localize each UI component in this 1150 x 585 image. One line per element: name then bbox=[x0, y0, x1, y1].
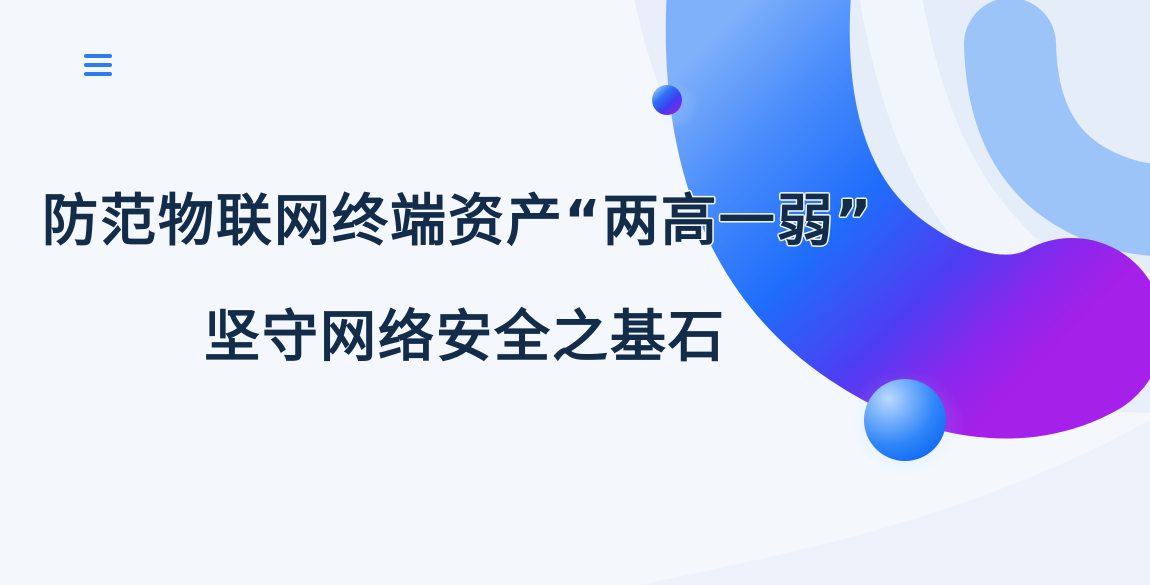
art-pale-panel-bottom-right bbox=[640, 420, 1150, 585]
slide-canvas: 防范物联网终端资产“两高一弱” 坚守网络安全之基石 bbox=[0, 0, 1150, 585]
slide-title-line-2: 坚守网络安全之基石 bbox=[0, 302, 900, 374]
hamburger-bar-middle bbox=[84, 63, 112, 67]
hamburger-menu-icon[interactable] bbox=[84, 52, 114, 78]
blue-purple-sphere-small bbox=[652, 85, 682, 115]
slide-title-block: 防范物联网终端资产“两高一弱” 坚守网络安全之基石 bbox=[0, 186, 900, 373]
hamburger-bar-top bbox=[84, 54, 112, 58]
blue-sphere-large bbox=[864, 379, 946, 461]
art-large-sphere-glow bbox=[845, 370, 965, 482]
hamburger-bar-bottom bbox=[84, 72, 112, 76]
slide-title-line-1: 防范物联网终端资产“两高一弱” bbox=[0, 186, 900, 258]
art-white-gap-arc bbox=[885, 0, 1150, 352]
art-small-sphere-glow bbox=[647, 82, 699, 130]
art-light-blue-arc bbox=[1010, 44, 1150, 210]
